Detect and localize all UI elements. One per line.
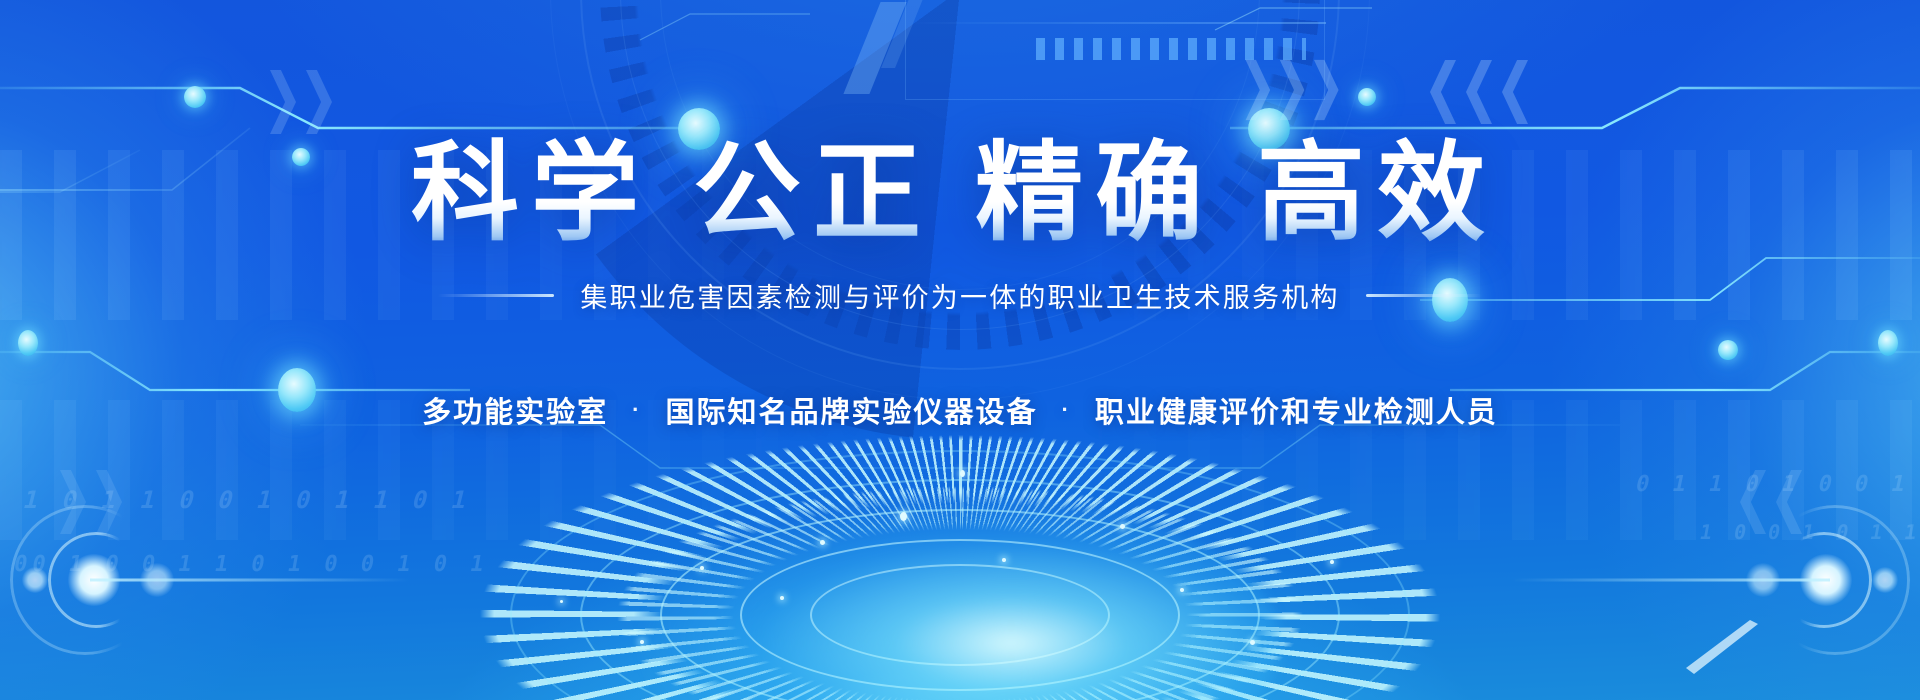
feature-item-1: 多功能实验室 [422, 389, 608, 431]
feature-item-3: 职业健康评价和专业检测人员 [1095, 389, 1498, 431]
feature-separator-2: · [1062, 397, 1071, 423]
feature-item-2: 国际知名品牌实验仪器设备 [665, 389, 1037, 431]
hero-banner: 1 0 1 1 0 0 1 0 1 1 0 1 00 1 0 0 1 1 0 1… [0, 0, 1920, 700]
subtitle-rule-left [438, 294, 554, 297]
banner-subtitle: 集职业危害因素检测与评价为一体的职业卫生技术服务机构 [580, 276, 1339, 315]
banner-subtitle-row: 集职业危害因素检测与评价为一体的职业卫生技术服务机构 [438, 276, 1481, 315]
subtitle-rule-right [1366, 294, 1482, 297]
banner-content: 科学 公正 精确 高效 集职业危害因素检测与评价为一体的职业卫生技术服务机构 多… [0, 0, 1920, 700]
feature-separator-1: · [632, 397, 641, 423]
banner-feature-list: 多功能实验室 · 国际知名品牌实验仪器设备 · 职业健康评价和专业检测人员 [422, 389, 1498, 431]
banner-headline: 科学 公正 精确 高效 [411, 136, 1509, 250]
